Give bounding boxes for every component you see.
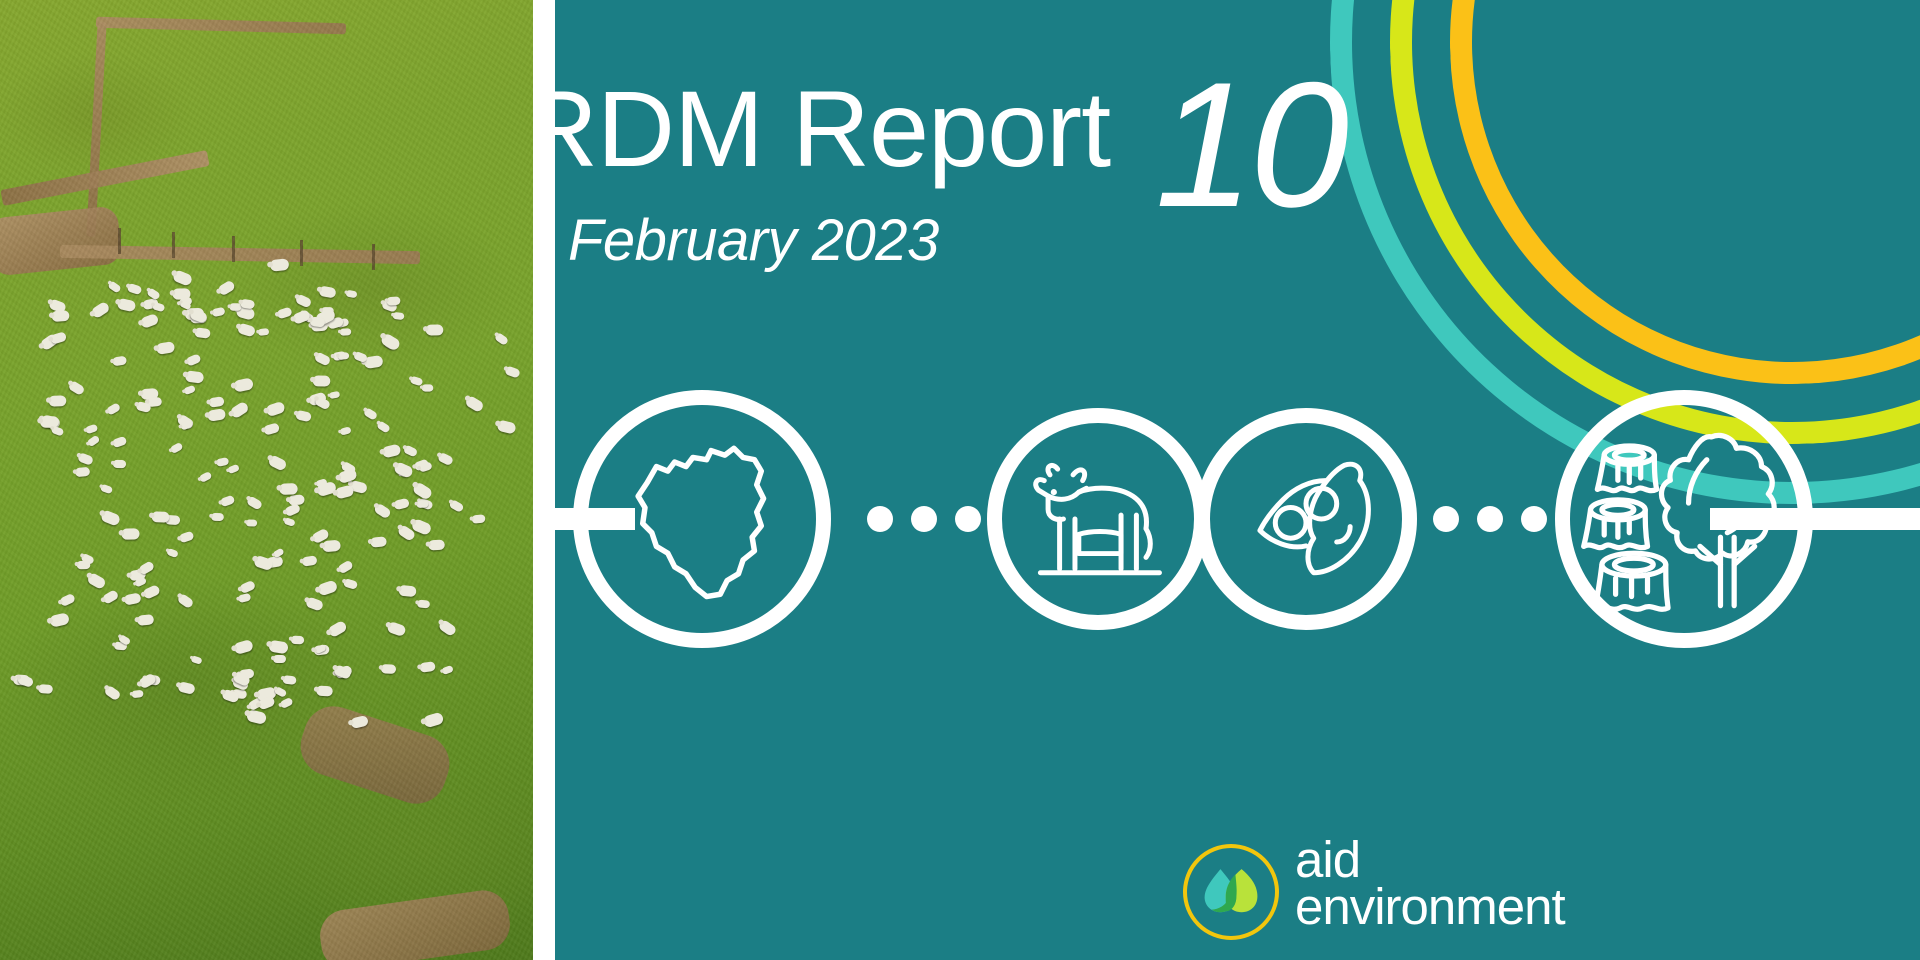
cattle-icon	[312, 375, 330, 386]
photo-panel-divider	[533, 0, 555, 960]
connector-dot	[955, 506, 981, 532]
cattle-icon	[422, 384, 434, 391]
cattle-icon	[194, 327, 211, 339]
connector-dot	[1521, 506, 1547, 532]
icon-circle-soy	[1195, 408, 1417, 630]
cattle-icon	[1002, 423, 1194, 615]
cattle-icon	[240, 298, 255, 309]
cattle-icon	[322, 539, 341, 552]
report-cover: RDM Report 10 February 2023	[0, 0, 1920, 960]
cattle-icon	[416, 500, 429, 508]
cattle-icon	[246, 519, 258, 526]
icon-circle-cattle	[987, 408, 1209, 630]
cattle-icon	[49, 395, 67, 407]
title-panel: RDM Report 10 February 2023	[555, 0, 1920, 960]
cattle-icon	[136, 614, 154, 626]
cattle-icon	[211, 513, 224, 521]
connector-dot	[1433, 506, 1459, 532]
cattle-icon	[121, 529, 139, 540]
report-date: February 2023	[568, 212, 939, 270]
cattle-icon	[51, 310, 69, 322]
connector-dot	[1477, 506, 1503, 532]
cattle-icon	[337, 352, 349, 360]
connector-dot	[867, 506, 893, 532]
brazil-map-icon	[588, 405, 816, 633]
cattle-icon	[76, 561, 90, 569]
cattle-icon	[279, 483, 298, 495]
cattle-icon	[398, 584, 416, 596]
page-title: RDM Report	[555, 75, 1520, 183]
cattle-icon	[370, 536, 387, 547]
photo-texture	[0, 0, 533, 960]
cattle-icon	[315, 685, 332, 696]
connector-dot	[911, 506, 937, 532]
logo-line-environment: environment	[1295, 883, 1565, 930]
cattle-icon	[113, 460, 126, 468]
tree-stumps-icon	[1570, 405, 1798, 633]
icon-circle-brazil-map	[573, 390, 831, 648]
cattle-icon	[38, 684, 53, 694]
cattle-icon	[282, 675, 297, 685]
cattle-icon	[387, 296, 401, 305]
icon-circle-deforestation	[1555, 390, 1813, 648]
cattle-icon	[381, 664, 397, 674]
logo-ring-icon	[1183, 844, 1279, 940]
cattle-icon	[392, 312, 404, 320]
cattle-icon	[152, 511, 170, 523]
soy-pod-icon	[1210, 423, 1402, 615]
aidenvironment-logo[interactable]: aid environment	[1183, 838, 1883, 950]
cattle-icon	[273, 655, 286, 663]
cattle-icon	[291, 635, 305, 644]
cover-photo	[0, 0, 533, 960]
logo-wordmark: aid environment	[1295, 836, 1565, 931]
cattle-icon	[426, 325, 444, 336]
cattle-icon	[428, 540, 445, 551]
issue-number: 10	[1155, 56, 1345, 234]
icon-strip	[555, 390, 1920, 650]
drop-leaf-icon	[1187, 848, 1275, 936]
cattle-icon	[301, 555, 317, 566]
logo-line-aid: aid	[1295, 836, 1565, 883]
